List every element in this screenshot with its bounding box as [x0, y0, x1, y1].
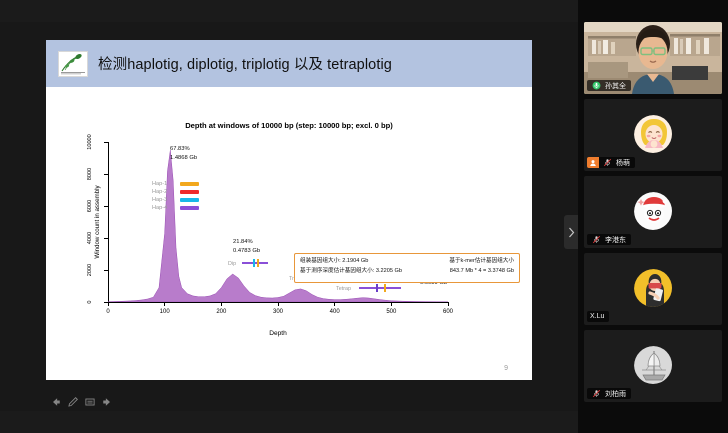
annotation-haplotig-size: 1.4868 Gb [170, 154, 197, 163]
x-tick [221, 302, 222, 306]
participant-name: 李港东 [605, 235, 628, 245]
participant-name-badge: 李港东 [587, 234, 631, 245]
x-tick-label: 500 [376, 309, 406, 315]
host-badge-icon [587, 157, 599, 168]
annotation-diplotig-percent: 21.84% [233, 238, 260, 247]
screen-share-stage: 检测haplotig, diplotig, triplotig 以及 tetra… [0, 0, 578, 433]
participant-name: 杨萌 [616, 158, 632, 168]
x-tick-label: 0 [93, 309, 123, 315]
x-tick [164, 302, 165, 306]
avatar [634, 269, 672, 307]
participant-name: X.Lu [590, 313, 606, 320]
chart-legend: Hap-1Hap-2Hap-3Hap-4 [152, 180, 199, 212]
infobox-row: 组装基因组大小: 2.1904 Gb 基于k-mer估计基因组大小 [300, 257, 514, 267]
annotation-diplotig: 21.84% 0.4783 Gb [233, 238, 260, 255]
legend-label: Hap-1 [152, 181, 176, 187]
legend-item-hap-2: Hap-2 [152, 188, 199, 195]
genome-size-infobox: 组装基因组大小: 2.1904 Gb 基于k-mer估计基因组大小 基于测序深度… [294, 253, 520, 283]
annotation-diplotig-size: 0.4783 Gb [233, 247, 260, 256]
legend-label: Hap-2 [152, 189, 176, 195]
participant-name-badge: 孙其全 [587, 80, 631, 91]
screen-root: 检测haplotig, diplotig, triplotig 以及 tetra… [0, 0, 728, 433]
x-tick [334, 302, 335, 306]
arrow-left-icon[interactable] [50, 396, 62, 408]
infobox-kmer-title: 基于k-mer估计基因组大小 [449, 257, 514, 267]
marker-label-tetrap: Tetrap [336, 286, 351, 292]
stage-bottom-strip [0, 411, 578, 433]
mic-muted-icon [603, 158, 612, 167]
mic-on-icon [592, 81, 601, 90]
mic-muted-icon [603, 158, 612, 167]
infobox-row: 基于测序深度估计基因组大小: 3.2205 Gb 843.7 Mb * 4 = … [300, 267, 514, 277]
mic-muted-icon [592, 235, 601, 244]
chart-container: Depth at windows of 10000 bp (step: 1000… [46, 87, 532, 380]
legend-label: Hap-4 [152, 205, 176, 211]
slide-header: 检测haplotig, diplotig, triplotig 以及 tetra… [46, 40, 532, 87]
avatar [634, 346, 672, 384]
chart-title: Depth at windows of 10000 bp (step: 1000… [46, 121, 532, 130]
participant-name: 刘柏雨 [605, 389, 628, 399]
institute-logo-icon [58, 51, 88, 77]
legend-item-hap-3: Hap-3 [152, 196, 199, 203]
x-tick-label: 600 [433, 309, 463, 315]
x-tick [108, 302, 109, 306]
infobox-depth-estimate: 基于测序深度估计基因组大小: 3.2205 Gb [300, 267, 402, 277]
marker-range-tetrap [359, 284, 401, 292]
marker-range-dip [242, 259, 268, 267]
panel-collapse-handle[interactable] [564, 215, 578, 249]
y-tick-label: 4000 [87, 226, 93, 250]
infobox-assembly-size: 组装基因组大小: 2.1904 Gb [300, 257, 368, 267]
x-tick-label: 200 [206, 309, 236, 315]
mic-on-icon [592, 81, 601, 90]
x-tick [391, 302, 392, 306]
mic-muted-icon [592, 235, 601, 244]
y-tick-label: 8000 [87, 162, 93, 186]
x-tick [448, 302, 449, 306]
participant-tile[interactable]: 李港东 [584, 176, 722, 248]
pen-icon[interactable] [67, 396, 79, 408]
slide-page-number: 9 [504, 365, 508, 372]
legend-item-hap-4: Hap-4 [152, 204, 199, 211]
legend-swatch [180, 206, 199, 210]
notes-icon[interactable] [84, 396, 96, 408]
x-tick-label: 400 [320, 309, 350, 315]
participant-tile[interactable]: 刘柏雨 [584, 330, 722, 402]
legend-label: Hap-3 [152, 197, 176, 203]
participant-tile[interactable]: X.Lu [584, 253, 722, 325]
participant-tile[interactable]: 孙其全 [584, 22, 722, 94]
marker-label-dip: Dip [228, 261, 236, 267]
x-tick-label: 100 [150, 309, 180, 315]
participant-name-badge: 杨萌 [587, 157, 635, 168]
arrow-right-icon[interactable] [101, 396, 113, 408]
legend-swatch [180, 198, 199, 202]
x-axis-label: Depth [108, 330, 448, 337]
avatar [634, 115, 672, 153]
participant-video-panel: 孙其全杨萌李港东X.Lu刘柏雨 [578, 0, 728, 433]
slide-nav-toolbar[interactable] [48, 393, 115, 411]
legend-swatch [180, 182, 199, 186]
presentation-slide: 检测haplotig, diplotig, triplotig 以及 tetra… [46, 40, 532, 380]
x-tick-label: 300 [263, 309, 293, 315]
y-tick-label: 6000 [87, 194, 93, 218]
x-tick [278, 302, 279, 306]
stage-top-strip [0, 0, 578, 22]
mic-muted-icon [592, 389, 601, 398]
mic-muted-icon [592, 389, 601, 398]
legend-item-hap-1: Hap-1 [152, 180, 199, 187]
participant-tile[interactable]: 杨萌 [584, 99, 722, 171]
slide-title: 检测haplotig, diplotig, triplotig 以及 tetra… [98, 53, 392, 74]
participant-name-badge: 刘柏雨 [587, 388, 631, 399]
avatar [634, 192, 672, 230]
participant-name: 孙其全 [605, 81, 628, 91]
chevron-right-icon[interactable] [568, 227, 575, 238]
legend-swatch [180, 190, 199, 194]
annotation-haplotig-percent: 67.83% [170, 145, 197, 154]
y-tick-label: 2000 [87, 258, 93, 282]
y-axis-label: Window count in assembly [94, 185, 101, 258]
participant-name-badge: X.Lu [587, 311, 609, 322]
y-tick-label: 10000 [87, 130, 93, 154]
infobox-kmer-estimate: 843.7 Mb * 4 = 3.3748 Gb [450, 267, 514, 277]
annotation-haplotig: 67.83% 1.4868 Gb [170, 145, 197, 162]
